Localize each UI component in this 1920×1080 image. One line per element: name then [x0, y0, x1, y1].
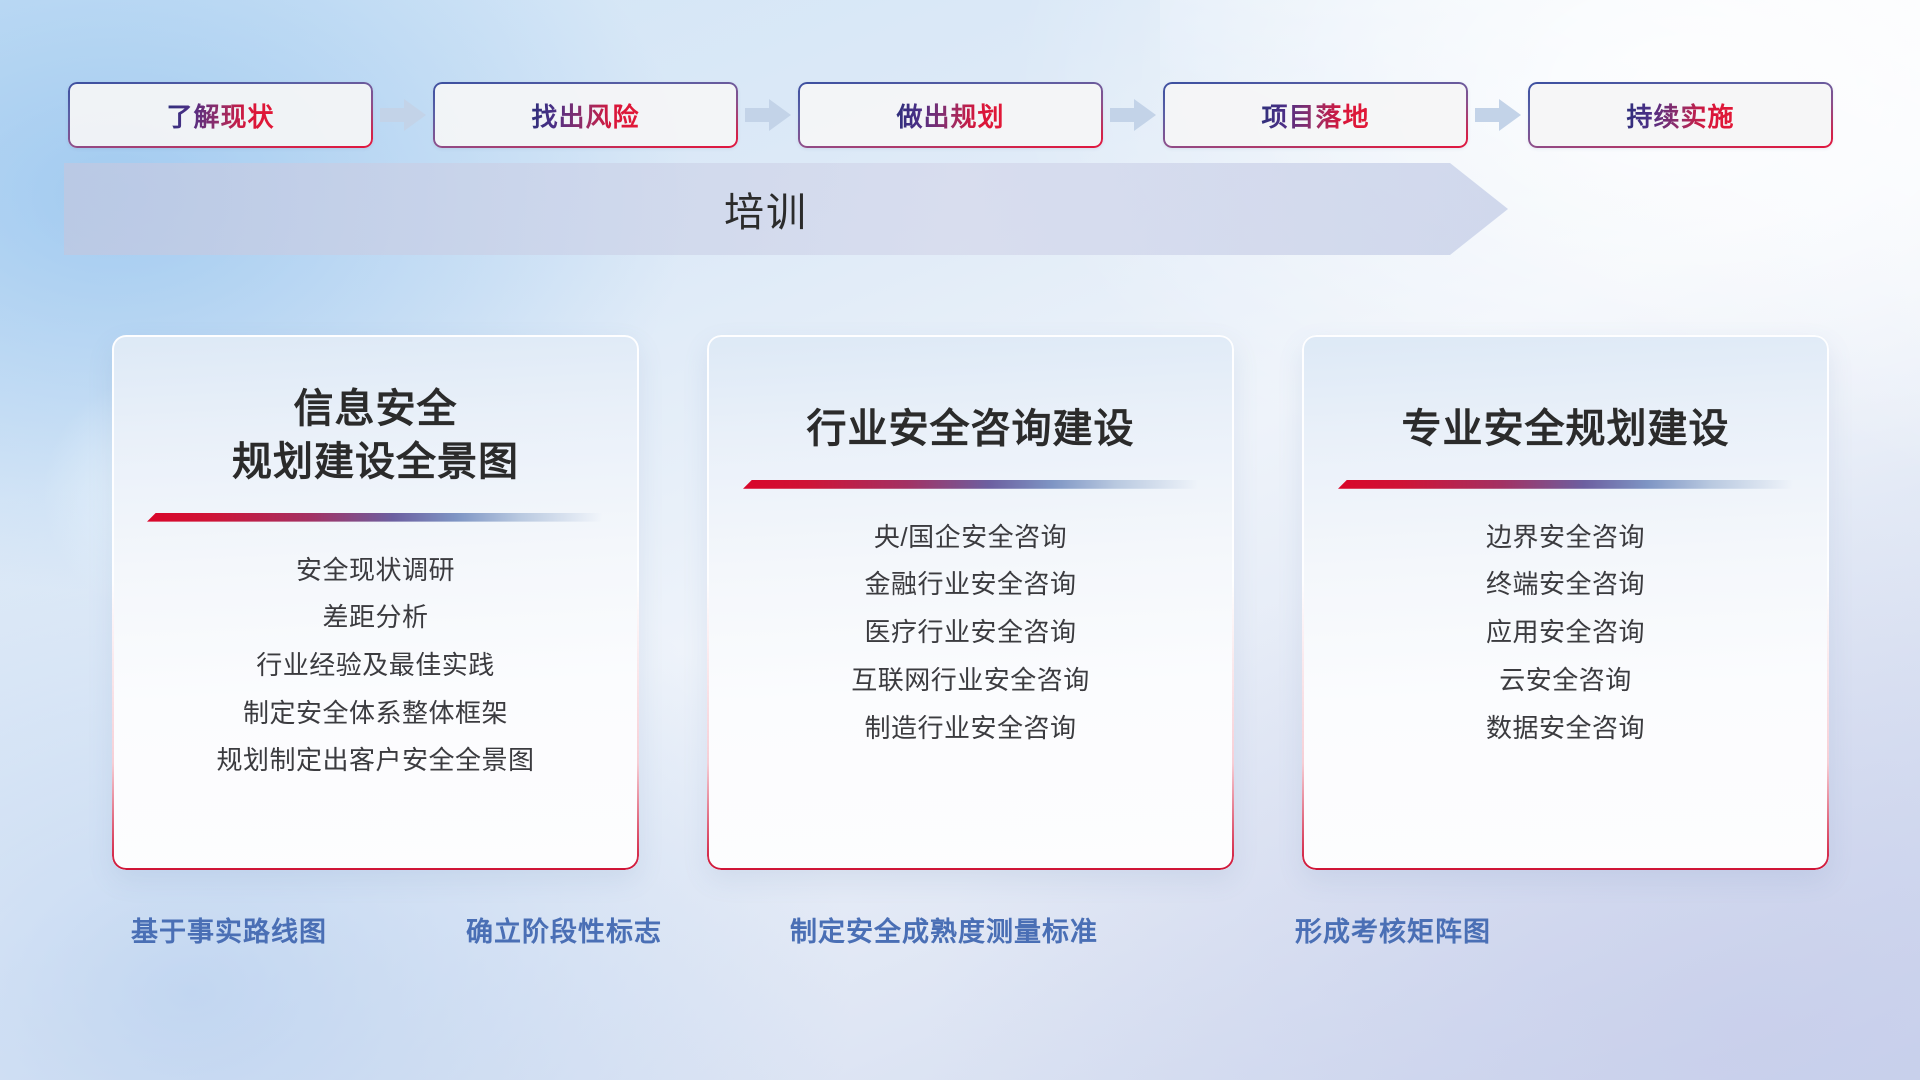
list-item: 数据安全咨询 — [1486, 710, 1645, 748]
card-3-title: 专业安全规划建设 — [1402, 403, 1730, 456]
process-step-2[interactable]: 找出风险 — [433, 82, 738, 148]
card-1-title: 信息安全 规划建设全景图 — [232, 383, 519, 489]
process-step-4[interactable]: 项目落地 — [1163, 82, 1468, 148]
list-item: 应用安全咨询 — [1486, 614, 1645, 652]
process-step-1-label: 了解现状 — [166, 97, 274, 134]
list-item: 安全现状调研 — [296, 552, 455, 590]
process-step-3-label: 做出规划 — [896, 97, 1004, 134]
process-step-row: 了解现状 找出风险 做出规划 项目落地 持续实施 — [68, 79, 1856, 151]
list-item: 规划制定出客户安全全景图 — [216, 742, 534, 780]
card-3-list: 边界安全咨询 终端安全咨询 应用安全咨询 云安全咨询 数据安全咨询 — [1328, 519, 1803, 747]
list-item: 互联网行业安全咨询 — [851, 662, 1090, 700]
list-item: 制定安全体系整体框架 — [243, 695, 508, 733]
card-2-list: 央/国企安全咨询 金融行业安全咨询 医疗行业安全咨询 互联网行业安全咨询 制造行… — [733, 519, 1208, 747]
training-banner: 培训 — [64, 163, 1508, 255]
outcome-label-row: 基于事实路线图 确立阶段性标志 制定安全成熟度测量标准 形成考核矩阵图 — [0, 910, 1920, 956]
process-step-5[interactable]: 持续实施 — [1528, 82, 1833, 148]
list-item: 云安全咨询 — [1499, 662, 1632, 700]
card-3-divider — [1338, 480, 1793, 489]
card-2-divider — [743, 480, 1198, 489]
outcome-label-1: 基于事实路线图 — [131, 910, 327, 949]
list-item: 央/国企安全咨询 — [874, 519, 1067, 557]
right-arrow-icon — [1468, 95, 1528, 135]
outcome-label-2: 确立阶段性标志 — [466, 910, 662, 949]
list-item: 医疗行业安全咨询 — [864, 614, 1076, 652]
list-item: 金融行业安全咨询 — [864, 566, 1076, 604]
outcome-label-4: 形成考核矩阵图 — [1295, 910, 1491, 949]
banner-title: 培训 — [64, 163, 1508, 255]
process-step-4-label: 项目落地 — [1261, 97, 1369, 134]
list-item: 终端安全咨询 — [1486, 566, 1645, 604]
capability-card-row: 信息安全 规划建设全景图 安全现状调研 差距分析 行业经验及最佳实践 制定安全体… — [112, 335, 1812, 875]
list-item: 制造行业安全咨询 — [864, 710, 1076, 748]
card-1-divider — [147, 513, 602, 522]
capability-card-2[interactable]: 行业安全咨询建设 央/国企安全咨询 金融行业安全咨询 医疗行业安全咨询 互联网行… — [707, 335, 1234, 870]
slide-canvas: 了解现状 找出风险 做出规划 项目落地 持续实施 培训 — [0, 0, 1920, 1080]
right-arrow-icon — [1103, 95, 1163, 135]
capability-card-1[interactable]: 信息安全 规划建设全景图 安全现状调研 差距分析 行业经验及最佳实践 制定安全体… — [112, 335, 639, 870]
list-item: 行业经验及最佳实践 — [256, 647, 495, 685]
right-arrow-icon — [373, 95, 433, 135]
process-step-3[interactable]: 做出规划 — [798, 82, 1103, 148]
process-step-5-label: 持续实施 — [1626, 97, 1734, 134]
capability-card-3[interactable]: 专业安全规划建设 边界安全咨询 终端安全咨询 应用安全咨询 云安全咨询 数据安全… — [1302, 335, 1829, 870]
process-step-1[interactable]: 了解现状 — [68, 82, 373, 148]
outcome-label-3: 制定安全成熟度测量标准 — [790, 910, 1098, 949]
card-1-list: 安全现状调研 差距分析 行业经验及最佳实践 制定安全体系整体框架 规划制定出客户… — [138, 552, 613, 780]
right-arrow-icon — [738, 95, 798, 135]
list-item: 边界安全咨询 — [1486, 519, 1645, 557]
list-item: 差距分析 — [322, 599, 428, 637]
process-step-2-label: 找出风险 — [531, 97, 639, 134]
card-2-title: 行业安全咨询建设 — [807, 403, 1135, 456]
